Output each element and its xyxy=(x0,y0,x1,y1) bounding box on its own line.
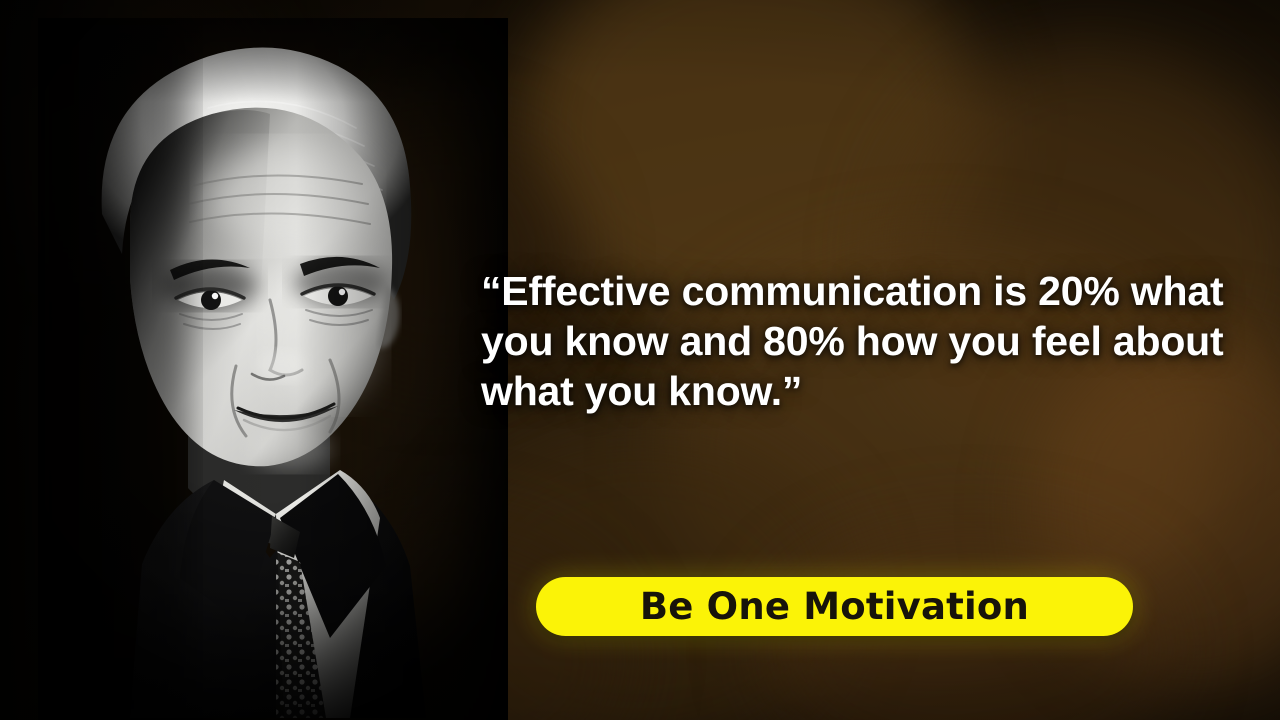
quote-card: “Effective communication is 20% what you… xyxy=(0,0,1280,720)
portrait-photo xyxy=(38,18,508,720)
brand-button[interactable]: Be One Motivation xyxy=(536,577,1133,636)
quote-line-3: what you know.” xyxy=(481,366,1153,416)
quote-line-2: you know and 80% how you feel about xyxy=(481,316,1153,366)
quote-text: “Effective communication is 20% what you… xyxy=(481,266,1153,416)
brand-button-label: Be One Motivation xyxy=(640,585,1029,628)
quote-line-1: “Effective communication is 20% what xyxy=(481,266,1153,316)
